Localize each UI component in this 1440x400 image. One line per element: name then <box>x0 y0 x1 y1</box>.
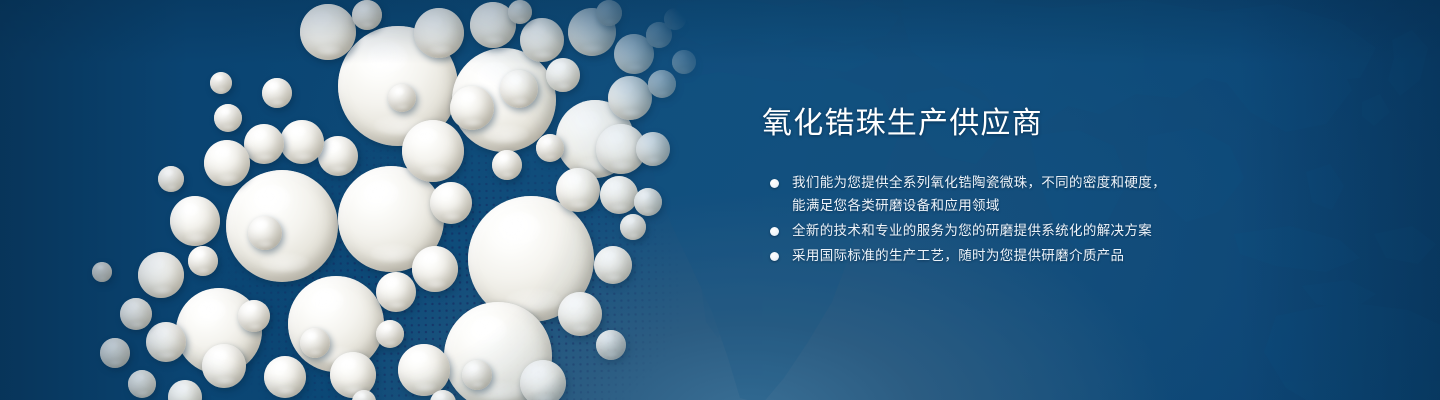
list-item: 全新的技术和专业的服务为您的研磨提供系统化的解决方案 <box>762 220 1402 243</box>
list-item: 我们能为您提供全系列氧化锆陶瓷微珠，不同的密度和硬度， 能满足您各类研磨设备和应… <box>762 172 1402 218</box>
banner-copy: 氧化锆珠生产供应商 我们能为您提供全系列氧化锆陶瓷微珠，不同的密度和硬度， 能满… <box>762 104 1402 270</box>
list-item-line: 我们能为您提供全系列氧化锆陶瓷微珠，不同的密度和硬度， <box>792 172 1402 195</box>
bullet-dot-icon <box>770 179 779 188</box>
page-title: 氧化锆珠生产供应商 <box>762 104 1402 144</box>
list-item-line: 采用国际标准的生产工艺，随时为您提供研磨介质产品 <box>792 245 1402 268</box>
bullet-dot-icon <box>770 227 779 236</box>
bullet-dot-icon <box>770 252 779 261</box>
list-item-line: 能满足您各类研磨设备和应用领域 <box>792 195 1402 218</box>
list-item-line: 全新的技术和专业的服务为您的研磨提供系统化的解决方案 <box>792 220 1402 243</box>
feature-list: 我们能为您提供全系列氧化锆陶瓷微珠，不同的密度和硬度， 能满足您各类研磨设备和应… <box>762 172 1402 268</box>
list-item: 采用国际标准的生产工艺，随时为您提供研磨介质产品 <box>762 245 1402 268</box>
hero-banner: 氧化锆珠生产供应商 我们能为您提供全系列氧化锆陶瓷微珠，不同的密度和硬度， 能满… <box>0 0 1440 400</box>
